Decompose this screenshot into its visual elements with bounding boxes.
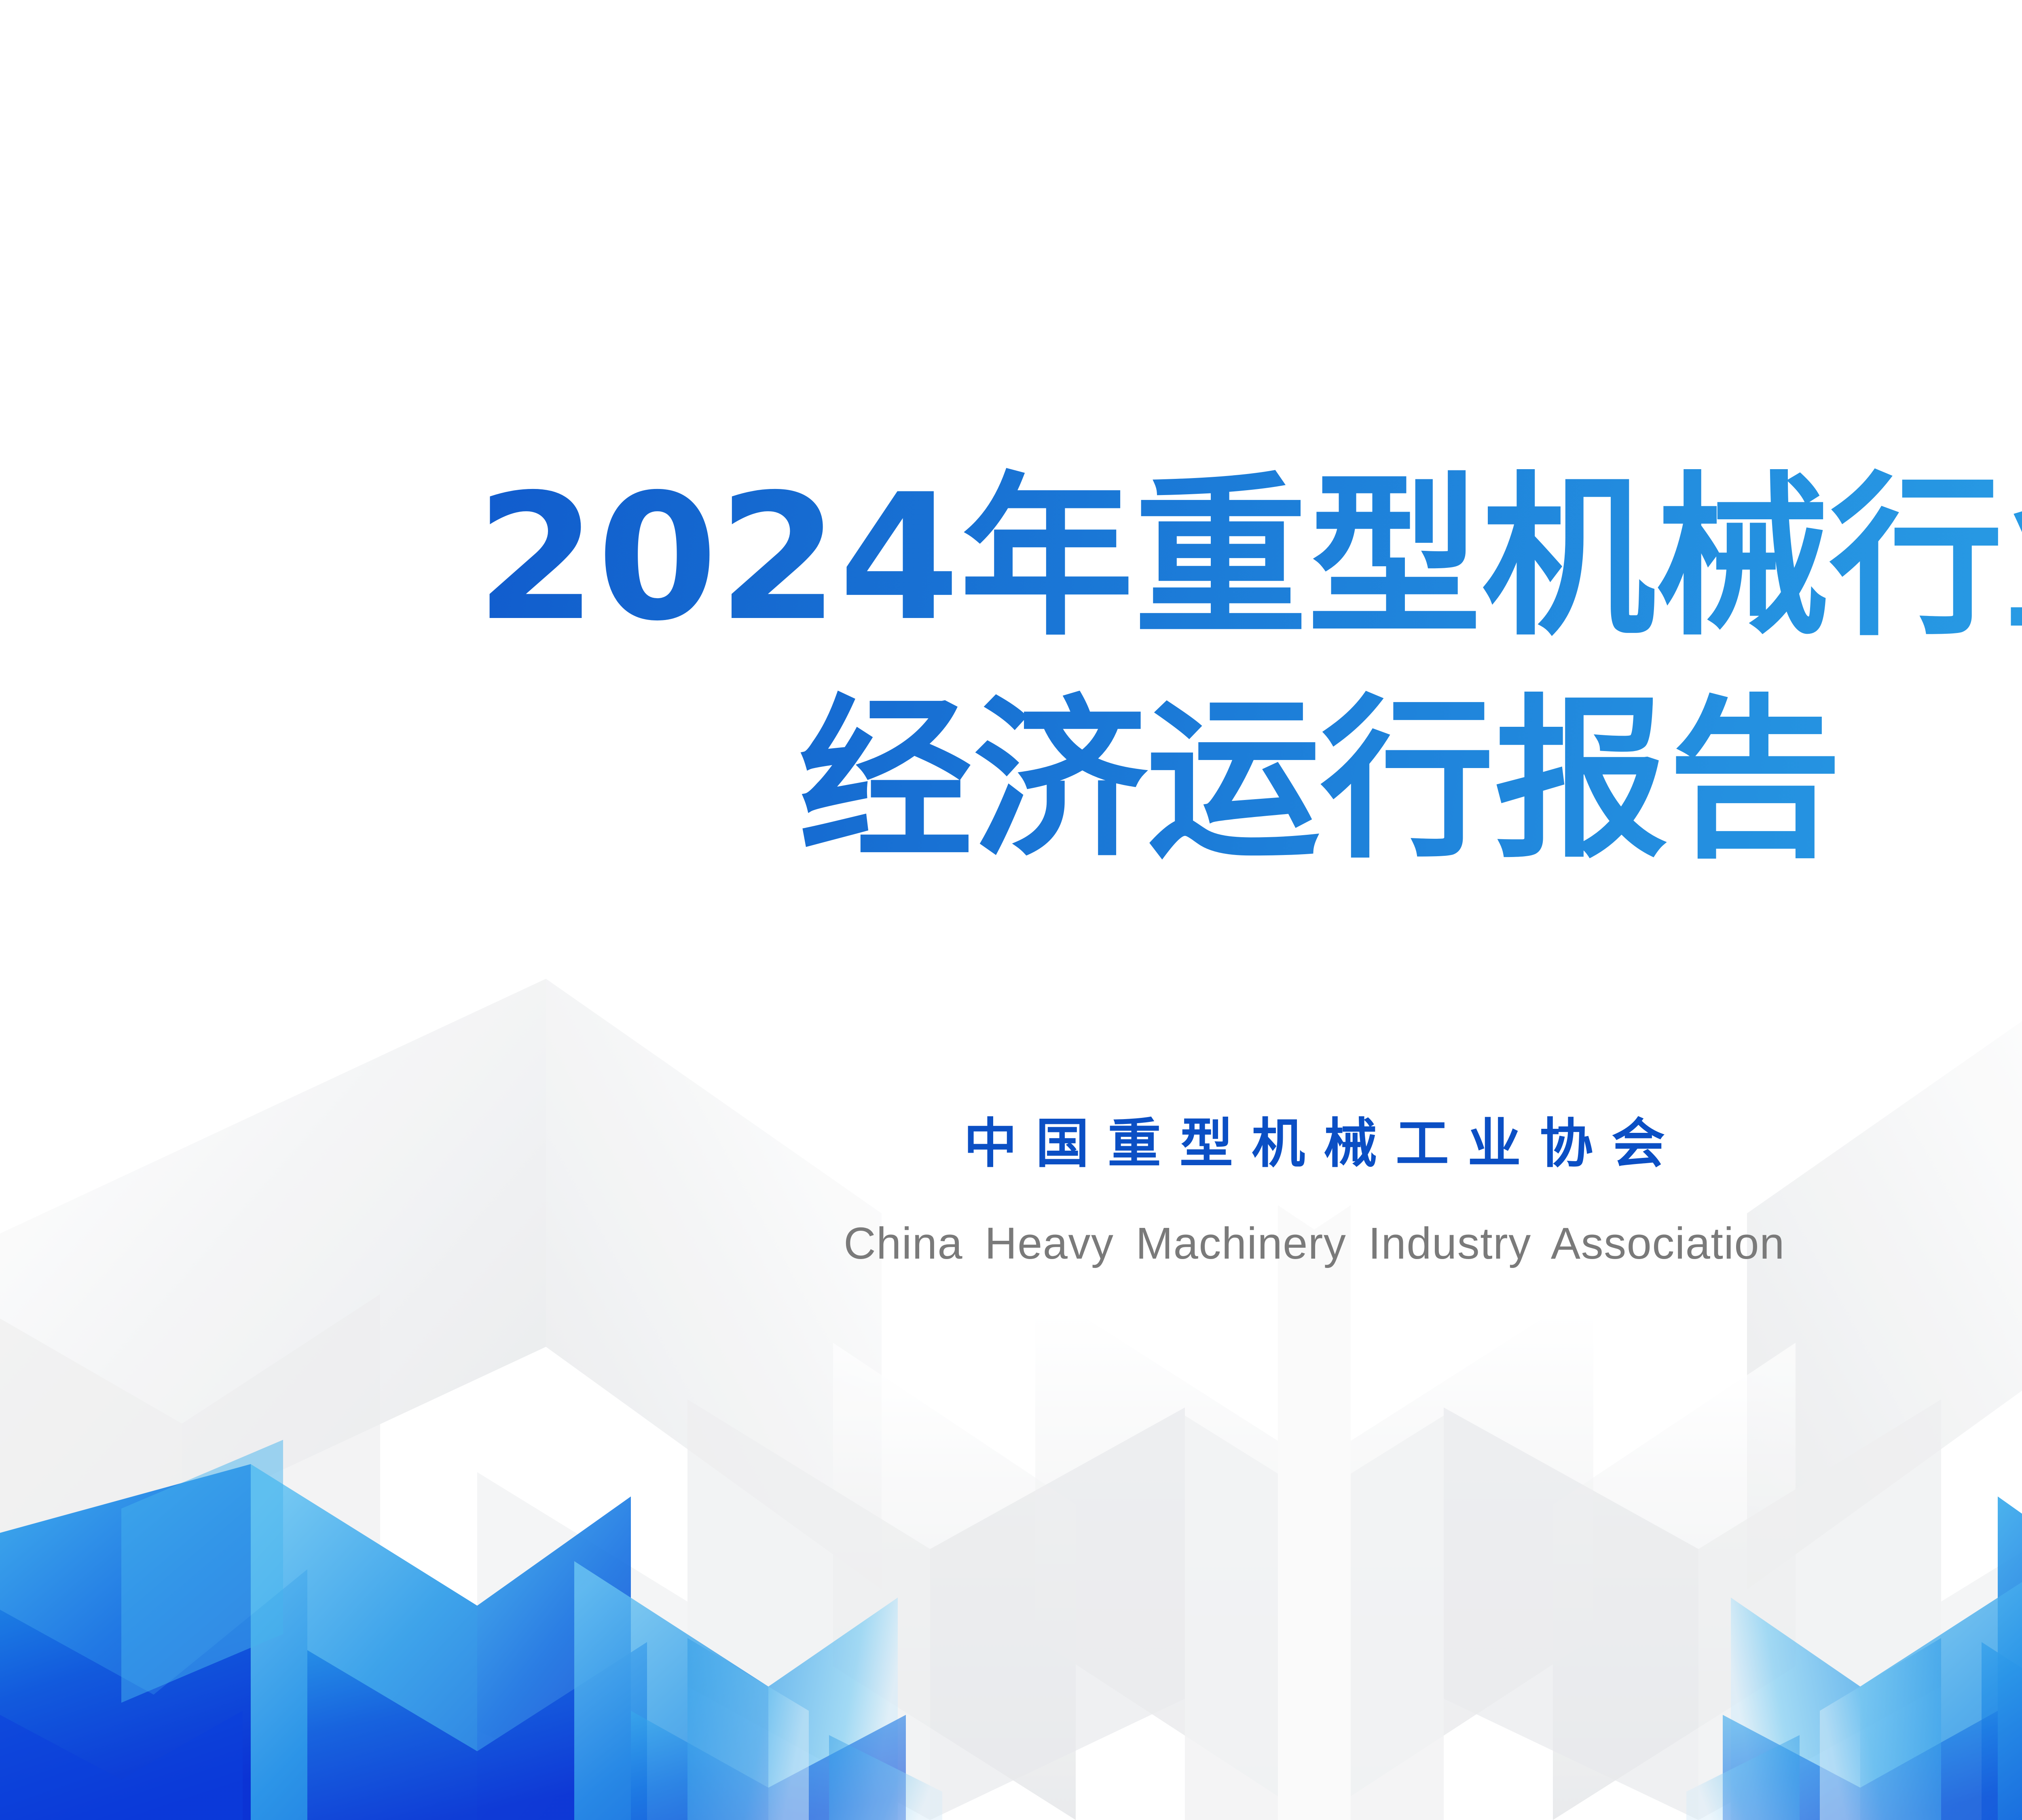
organization-name-en: China Heavy Machinery Industry Associati…	[0, 1217, 2022, 1270]
organization-block: 中国重型机械工业协会 China Heavy Machinery Industr…	[0, 1110, 2022, 1270]
page-title: 2024年重型机械行业 经济运行报告	[0, 447, 2022, 892]
cover-content: 2024年重型机械行业 经济运行报告 中国重型机械工业协会 China Heav…	[0, 0, 2022, 1820]
title-line-2: 经济运行报告	[0, 669, 2022, 892]
title-line-1: 2024年重型机械行业	[0, 447, 2022, 669]
cover-slide: 2024年重型机械行业 经济运行报告 中国重型机械工业协会 China Heav…	[0, 0, 2022, 1820]
organization-name-cn: 中国重型机械工业协会	[0, 1110, 2022, 1177]
